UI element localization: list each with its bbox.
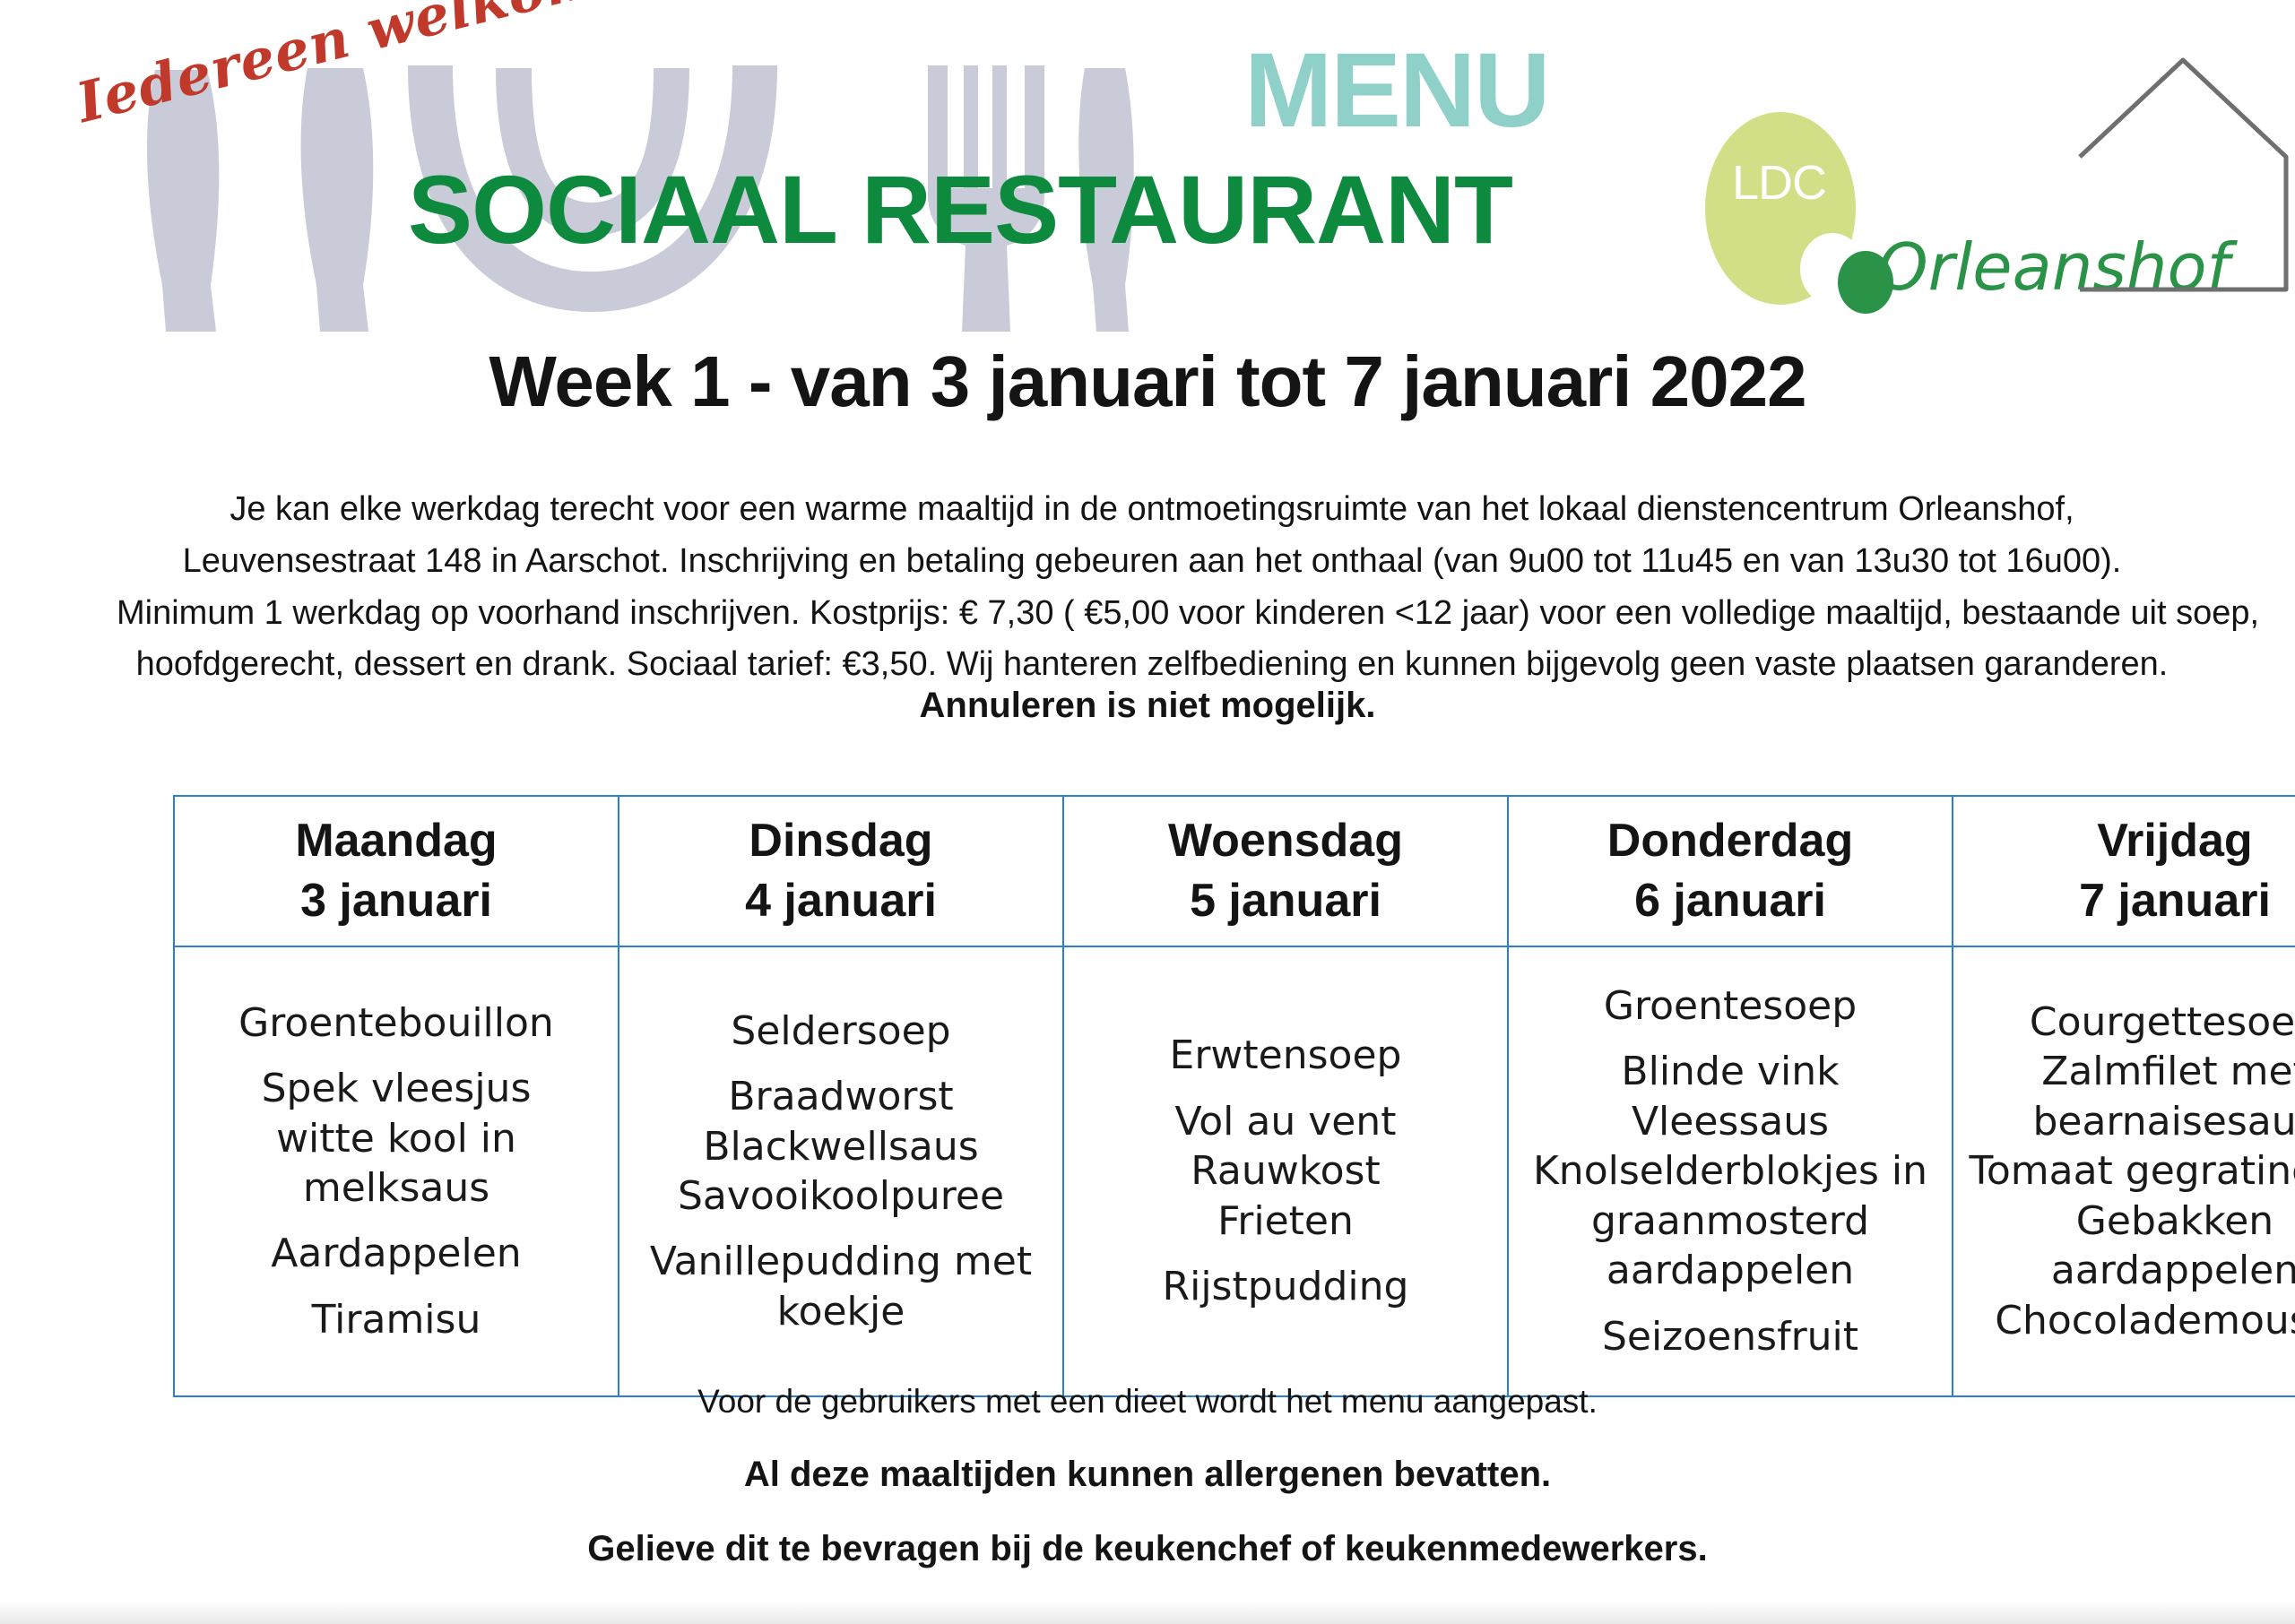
dish-line: Vanillepudding met	[625, 1237, 1057, 1286]
dish-line: aardappelen	[1959, 1246, 2295, 1295]
dish-line: Blinde vink	[1514, 1047, 1946, 1096]
dish-group: Blinde vinkVleessausKnolselderblokjes in…	[1514, 1047, 1946, 1295]
dish-line: Tiramisu	[180, 1295, 612, 1344]
day-name: Vrijdag	[1953, 811, 2295, 871]
weekly-menu-table: Maandag 3 januari Dinsdag 4 januari Woen…	[173, 795, 2295, 1397]
intro-line: hoofdgerecht, dessert en drank. Sociaal …	[117, 639, 2187, 691]
dish-group: Seizoensfruit	[1514, 1312, 1946, 1361]
dish-line: Vol au vent	[1070, 1097, 1502, 1146]
page-title: Week 1 - van 3 januari tot 7 januari 202…	[0, 341, 2295, 423]
menu-cell-dinsdag: SeldersoepBraadworstBlackwellsausSavooik…	[619, 946, 1063, 1396]
dish-line: Chocolademousse	[1959, 1296, 2295, 1345]
table-row: GroentebouillonSpek vleesjuswitte kool i…	[174, 946, 2295, 1396]
dish-group: Spek vleesjuswitte kool inmelksaus	[180, 1064, 612, 1213]
dish-group: Rijstpudding	[1070, 1262, 1502, 1311]
ask-kitchen-note: Gelieve dit te bevragen bij de keukenche…	[0, 1529, 2295, 1569]
dish-line: Groentebouillon	[180, 998, 612, 1048]
dish-line: witte kool in	[180, 1114, 612, 1163]
ldc-orleanshof-logo: LDC Orleanshof	[1685, 49, 2295, 318]
dish-line: Spek vleesjus	[180, 1064, 612, 1113]
house-outline-icon	[2071, 49, 2295, 305]
dish-line: Savooikoolpuree	[625, 1171, 1057, 1221]
dish-line: graanmosterd	[1514, 1196, 1946, 1246]
day-date: 4 januari	[619, 871, 1062, 931]
dish-line: bearnaisesaus	[1959, 1097, 2295, 1146]
diet-note: Voor de gebruikers met een dieet wordt h…	[0, 1383, 2295, 1421]
day-name: Maandag	[175, 811, 618, 871]
intro-line: Minimum 1 werkdag op voorhand inschrijve…	[117, 588, 2187, 640]
dish-line: Braadworst	[625, 1072, 1057, 1121]
dish-line: Aardappelen	[180, 1229, 612, 1278]
dish-line: Seizoensfruit	[1514, 1312, 1946, 1361]
dish-line: Tomaat gegratineerd	[1959, 1146, 2295, 1196]
day-header-vrijdag: Vrijdag 7 januari	[1953, 796, 2295, 946]
menu-cell-donderdag: GroentesoepBlinde vinkVleessausKnolselde…	[1508, 946, 1953, 1396]
dish-line: Erwtensoep	[1070, 1031, 1502, 1080]
day-name: Donderdag	[1509, 811, 1952, 871]
dish-line: Courgettesoep	[1959, 998, 2295, 1047]
dish-line: Knolselderblokjes in	[1514, 1146, 1946, 1196]
dish-group: Seldersoep	[625, 1006, 1057, 1056]
day-header-maandag: Maandag 3 januari	[174, 796, 619, 946]
menu-cell-maandag: GroentebouillonSpek vleesjuswitte kool i…	[174, 946, 619, 1396]
footer-notes: Voor de gebruikers met een dieet wordt h…	[0, 1383, 2295, 1569]
intro-line: Je kan elke werkdag terecht voor een war…	[117, 484, 2187, 536]
day-header-woensdag: Woensdag 5 januari	[1063, 796, 1508, 946]
intro-paragraph: Je kan elke werkdag terecht voor een war…	[117, 484, 2187, 691]
dish-group: Vol au ventRauwkostFrieten	[1070, 1097, 1502, 1246]
dish-group: BraadworstBlackwellsausSavooikoolpuree	[625, 1072, 1057, 1221]
dish-group: Groentebouillon	[180, 998, 612, 1048]
dish-line: koekje	[625, 1287, 1057, 1336]
day-name: Woensdag	[1064, 811, 1507, 871]
dish-line: Gebakken	[1959, 1196, 2295, 1246]
header-banner: Iedereen welkom! MENU SOCIAAL RESTAURANT…	[0, 0, 2295, 336]
day-header-dinsdag: Dinsdag 4 januari	[619, 796, 1063, 946]
dish-line: Vleessaus	[1514, 1097, 1946, 1146]
dish-line: Blackwellsaus	[625, 1122, 1057, 1171]
dish-line: Rijstpudding	[1070, 1262, 1502, 1311]
day-date: 6 januari	[1509, 871, 1952, 931]
table-header-row: Maandag 3 januari Dinsdag 4 januari Woen…	[174, 796, 2295, 946]
dish-group: Erwtensoep	[1070, 1031, 1502, 1080]
allergen-note: Al deze maaltijden kunnen allergenen bev…	[0, 1455, 2295, 1495]
dish-group: Aardappelen	[180, 1229, 612, 1278]
dish-group: Vanillepudding metkoekje	[625, 1237, 1057, 1336]
menu-word: MENU	[1244, 38, 1548, 143]
day-header-donderdag: Donderdag 6 januari	[1508, 796, 1953, 946]
cancellation-note: Annuleren is niet mogelijk.	[0, 686, 2295, 726]
scan-shadow	[0, 1601, 2295, 1624]
dish-line: Zalmfilet met	[1959, 1047, 2295, 1096]
sociaal-restaurant-title: SOCIAAL RESTAURANT	[408, 161, 1512, 258]
logo-ldc-abbreviation: LDC	[1732, 159, 1826, 207]
day-date: 7 januari	[1953, 871, 2295, 931]
dish-group: CourgettesoepZalmfilet metbearnaisesausT…	[1959, 998, 2295, 1345]
welcome-slogan: Iedereen welkom!	[71, 0, 695, 135]
menu-cell-vrijdag: CourgettesoepZalmfilet metbearnaisesausT…	[1953, 946, 2295, 1396]
dish-line: aardappelen	[1514, 1246, 1946, 1295]
dish-group: Groentesoep	[1514, 981, 1946, 1031]
dish-line: Seldersoep	[625, 1006, 1057, 1056]
day-date: 3 januari	[175, 871, 618, 931]
menu-cell-woensdag: ErwtensoepVol au ventRauwkostFrietenRijs…	[1063, 946, 1508, 1396]
dish-line: Frieten	[1070, 1196, 1502, 1246]
day-date: 5 januari	[1064, 871, 1507, 931]
dish-line: Groentesoep	[1514, 981, 1946, 1031]
dish-group: Tiramisu	[180, 1295, 612, 1344]
dish-line: Rauwkost	[1070, 1146, 1502, 1196]
day-name: Dinsdag	[619, 811, 1062, 871]
dish-line: melksaus	[180, 1163, 612, 1213]
intro-line: Leuvensestraat 148 in Aarschot. Inschrij…	[117, 536, 2187, 588]
